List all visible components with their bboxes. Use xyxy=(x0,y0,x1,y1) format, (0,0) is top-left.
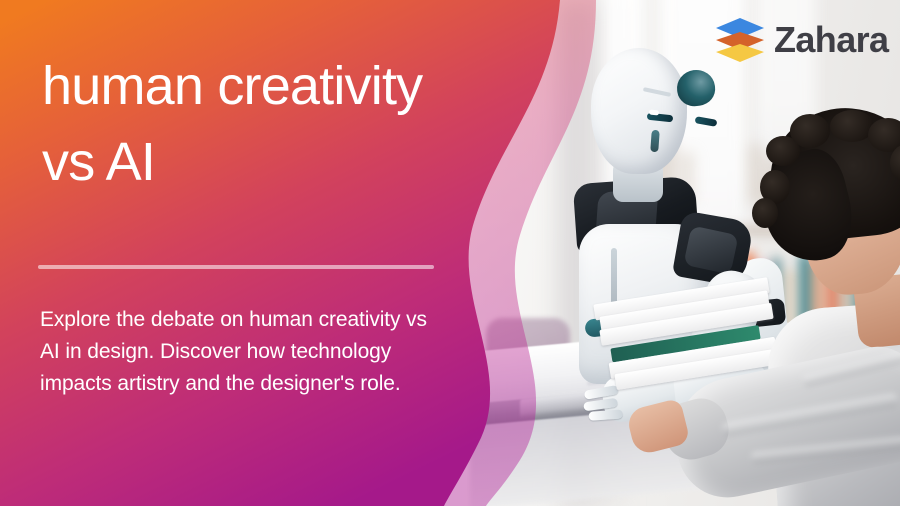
divider xyxy=(38,265,434,269)
stacked-layers-icon xyxy=(716,18,764,62)
hero-banner: human creativity vs AI Explore the debat… xyxy=(0,0,900,506)
page-title: human creativity vs AI xyxy=(42,48,512,200)
hero-content: human creativity vs AI Explore the debat… xyxy=(0,0,520,506)
brand-wordmark: Zahara xyxy=(774,22,888,58)
brand-logo[interactable]: Zahara xyxy=(716,18,888,62)
hero-description: Explore the debate on human creativity v… xyxy=(40,304,440,400)
